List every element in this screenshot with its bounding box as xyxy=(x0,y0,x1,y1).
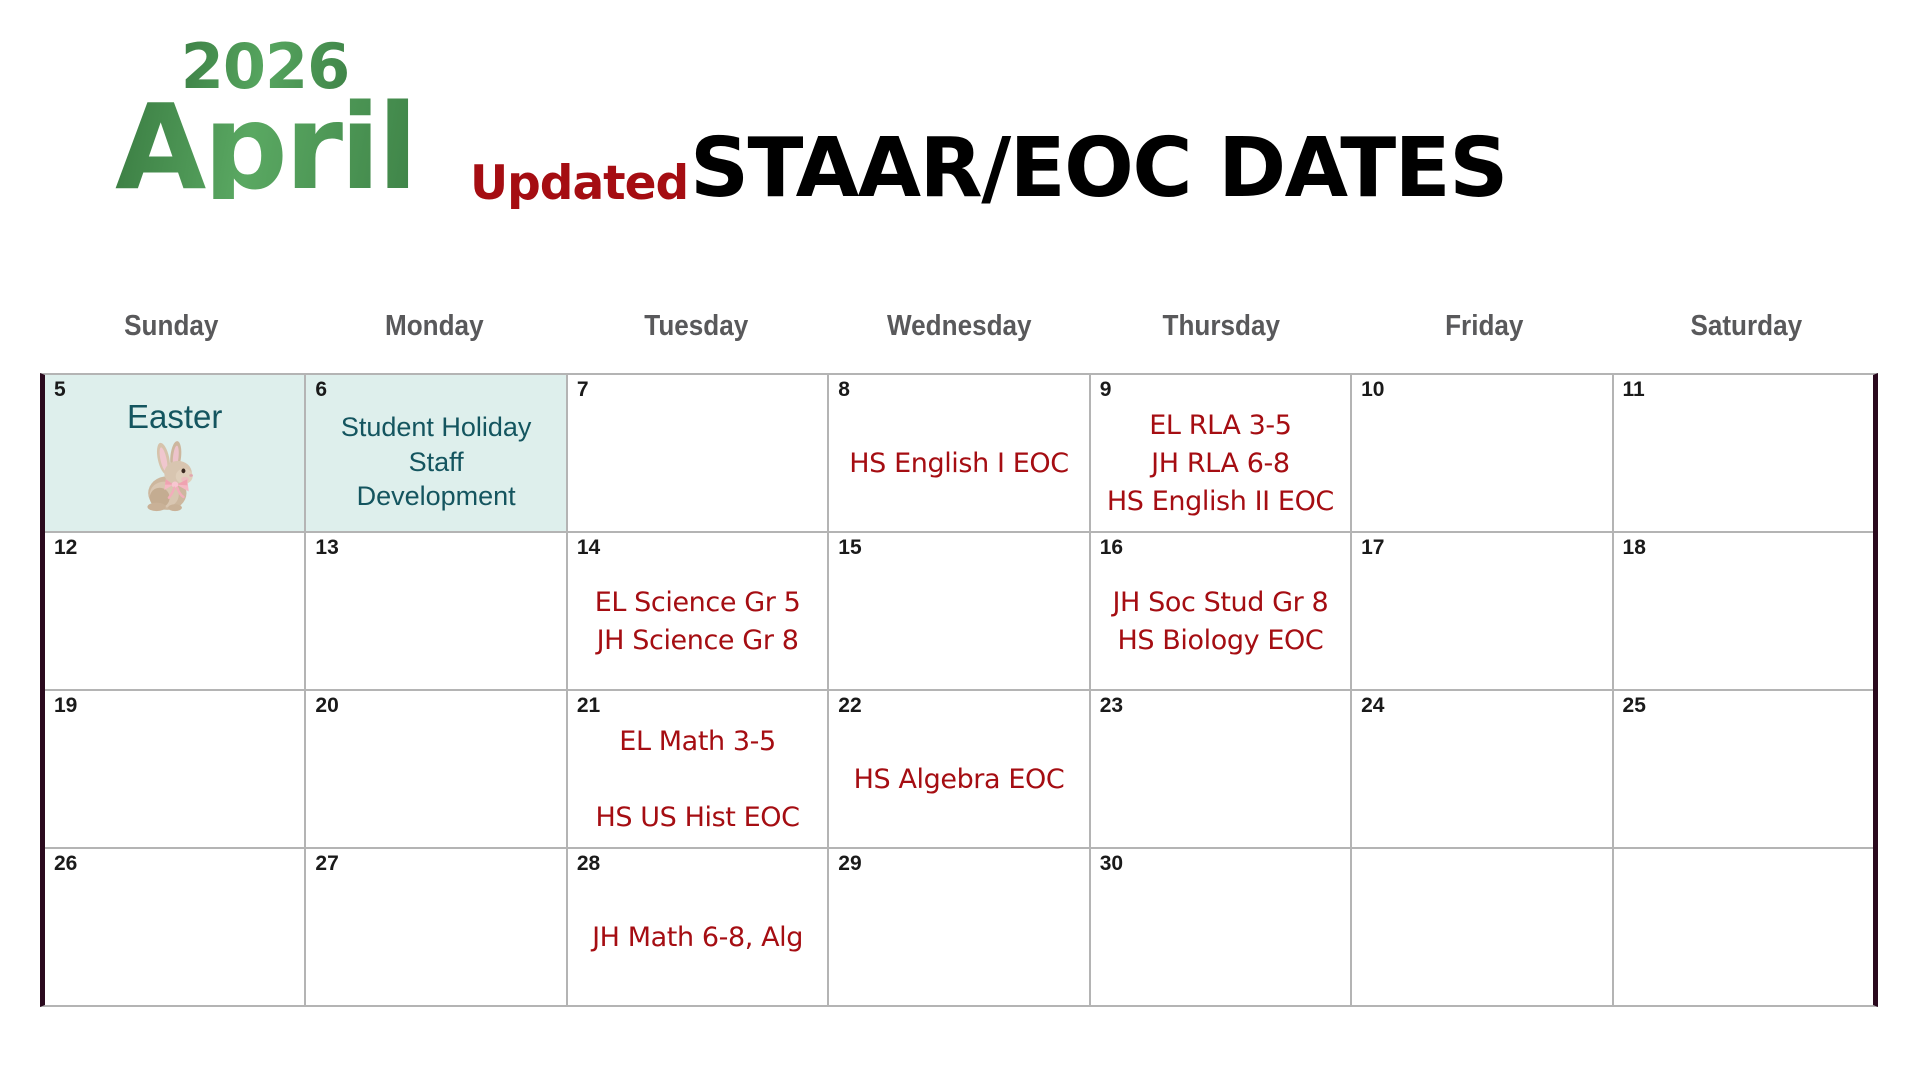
weekday-header-wednesday: Wednesday xyxy=(841,310,1077,343)
month-year-title: 2026 April xyxy=(55,38,475,199)
month-label: April xyxy=(115,97,415,198)
day-number: 20 xyxy=(315,695,338,716)
day-cell-19[interactable]: 19 xyxy=(45,691,306,847)
weekday-header-tuesday: Tuesday xyxy=(578,310,814,343)
day-cell-23[interactable]: 23 xyxy=(1091,691,1352,847)
holiday-line: Student Holiday xyxy=(341,410,532,445)
day-number: 11 xyxy=(1623,379,1645,400)
event-item: JH Soc Stud Gr 8 xyxy=(1112,584,1328,622)
event-list: HS English I EOC xyxy=(829,401,1088,527)
day-number: 13 xyxy=(315,537,338,558)
day-cell-7[interactable]: 7 xyxy=(568,375,829,531)
event-item: JH RLA 6-8 xyxy=(1151,445,1289,483)
weekday-header-friday: Friday xyxy=(1366,310,1602,343)
day-number: 22 xyxy=(838,695,861,716)
day-cell-empty[interactable] xyxy=(1352,849,1613,1005)
event-list: JH Math 6-8, Alg xyxy=(568,875,827,1001)
calendar-week-row: 5Easter xyxy=(45,375,1873,533)
event-item: EL Math 3-5 xyxy=(619,723,776,761)
day-cell-6[interactable]: 6Student HolidayStaffDevelopment xyxy=(306,375,567,531)
day-cell-10[interactable]: 10 xyxy=(1352,375,1613,531)
event-item: EL RLA 3-5 xyxy=(1149,407,1291,445)
calendar-page: 2026 April Updated STAAR/EOC DATES Sunda… xyxy=(0,0,1920,1080)
updated-badge: Updated xyxy=(470,160,688,207)
event-item: JH Math 6-8, Alg xyxy=(592,919,803,957)
day-cell-8[interactable]: 8HS English I EOC xyxy=(829,375,1090,531)
day-cell-14[interactable]: 14EL Science Gr 5JH Science Gr 8 xyxy=(568,533,829,689)
holiday-title: Easter xyxy=(127,397,222,437)
day-cell-13[interactable]: 13 xyxy=(306,533,567,689)
day-number: 17 xyxy=(1361,537,1384,558)
day-number: 12 xyxy=(54,537,77,558)
day-number: 25 xyxy=(1623,695,1646,716)
day-number: 14 xyxy=(577,537,600,558)
day-number: 28 xyxy=(577,853,600,874)
weekday-header-monday: Monday xyxy=(316,310,552,343)
holiday-content: Easter xyxy=(45,397,304,527)
day-number: 9 xyxy=(1100,379,1112,400)
day-cell-27[interactable]: 27 xyxy=(306,849,567,1005)
event-item: HS English I EOC xyxy=(849,445,1068,483)
day-cell-18[interactable]: 18 xyxy=(1614,533,1873,689)
day-number: 10 xyxy=(1361,379,1384,400)
day-cell-24[interactable]: 24 xyxy=(1352,691,1613,847)
day-cell-20[interactable]: 20 xyxy=(306,691,567,847)
day-cell-29[interactable]: 29 xyxy=(829,849,1090,1005)
calendar-week-row: 121314EL Science Gr 5JH Science Gr 81516… xyxy=(45,533,1873,691)
event-item: HS English II EOC xyxy=(1107,483,1334,521)
day-cell-5[interactable]: 5Easter xyxy=(45,375,306,531)
weekday-header-row: SundayMondayTuesdayWednesdayThursdayFrid… xyxy=(40,310,1878,343)
event-item: HS Biology EOC xyxy=(1117,622,1323,660)
calendar-header: 2026 April Updated STAAR/EOC DATES xyxy=(0,0,1920,290)
day-cell-17[interactable]: 17 xyxy=(1352,533,1613,689)
holiday-line: Staff xyxy=(409,445,464,480)
calendar-week-row: 262728JH Math 6-8, Alg2930 xyxy=(45,849,1873,1005)
day-number: 23 xyxy=(1100,695,1123,716)
day-number: 18 xyxy=(1623,537,1646,558)
day-cell-26[interactable]: 26 xyxy=(45,849,306,1005)
holiday-content: Student HolidayStaffDevelopment xyxy=(306,397,565,527)
day-number: 15 xyxy=(838,537,861,558)
day-number: 24 xyxy=(1361,695,1384,716)
weekday-header-saturday: Saturday xyxy=(1629,310,1865,343)
event-item: EL Science Gr 5 xyxy=(595,584,801,622)
weekday-header-sunday: Sunday xyxy=(53,310,289,343)
day-cell-15[interactable]: 15 xyxy=(829,533,1090,689)
day-cell-empty[interactable] xyxy=(1614,849,1873,1005)
day-cell-28[interactable]: 28JH Math 6-8, Alg xyxy=(568,849,829,1005)
day-cell-16[interactable]: 16JH Soc Stud Gr 8HS Biology EOC xyxy=(1091,533,1352,689)
event-list: EL Math 3-5 HS US Hist EOC xyxy=(568,717,827,843)
day-cell-22[interactable]: 22HS Algebra EOC xyxy=(829,691,1090,847)
day-number: 21 xyxy=(577,695,600,716)
event-list: JH Soc Stud Gr 8HS Biology EOC xyxy=(1091,559,1350,685)
day-cell-21[interactable]: 21EL Math 3-5 HS US Hist EOC xyxy=(568,691,829,847)
day-number: 30 xyxy=(1100,853,1123,874)
day-cell-25[interactable]: 25 xyxy=(1614,691,1873,847)
event-item: JH Science Gr 8 xyxy=(597,622,799,660)
calendar-grid: 5Easter xyxy=(40,373,1878,1007)
event-spacer xyxy=(693,761,701,799)
day-number: 16 xyxy=(1100,537,1123,558)
calendar-week-row: 192021EL Math 3-5 HS US Hist EOC22HS Alg… xyxy=(45,691,1873,849)
day-number: 27 xyxy=(315,853,338,874)
page-title: STAAR/EOC DATES xyxy=(690,128,1507,210)
day-number: 8 xyxy=(838,379,850,400)
day-cell-30[interactable]: 30 xyxy=(1091,849,1352,1005)
day-number: 29 xyxy=(838,853,861,874)
event-item: HS US Hist EOC xyxy=(595,799,799,837)
event-item: HS Algebra EOC xyxy=(854,761,1065,799)
day-cell-9[interactable]: 9EL RLA 3-5JH RLA 6-8HS English II EOC xyxy=(1091,375,1352,531)
day-number: 7 xyxy=(577,379,589,400)
day-number: 19 xyxy=(54,695,77,716)
holiday-line: Development xyxy=(357,479,516,514)
bunny-icon xyxy=(136,441,214,513)
day-cell-12[interactable]: 12 xyxy=(45,533,306,689)
event-list: EL Science Gr 5JH Science Gr 8 xyxy=(568,559,827,685)
event-list: EL RLA 3-5JH RLA 6-8HS English II EOC xyxy=(1091,401,1350,527)
event-list: HS Algebra EOC xyxy=(829,717,1088,843)
weekday-header-thursday: Thursday xyxy=(1103,310,1339,343)
day-cell-11[interactable]: 11 xyxy=(1614,375,1873,531)
day-number: 26 xyxy=(54,853,77,874)
